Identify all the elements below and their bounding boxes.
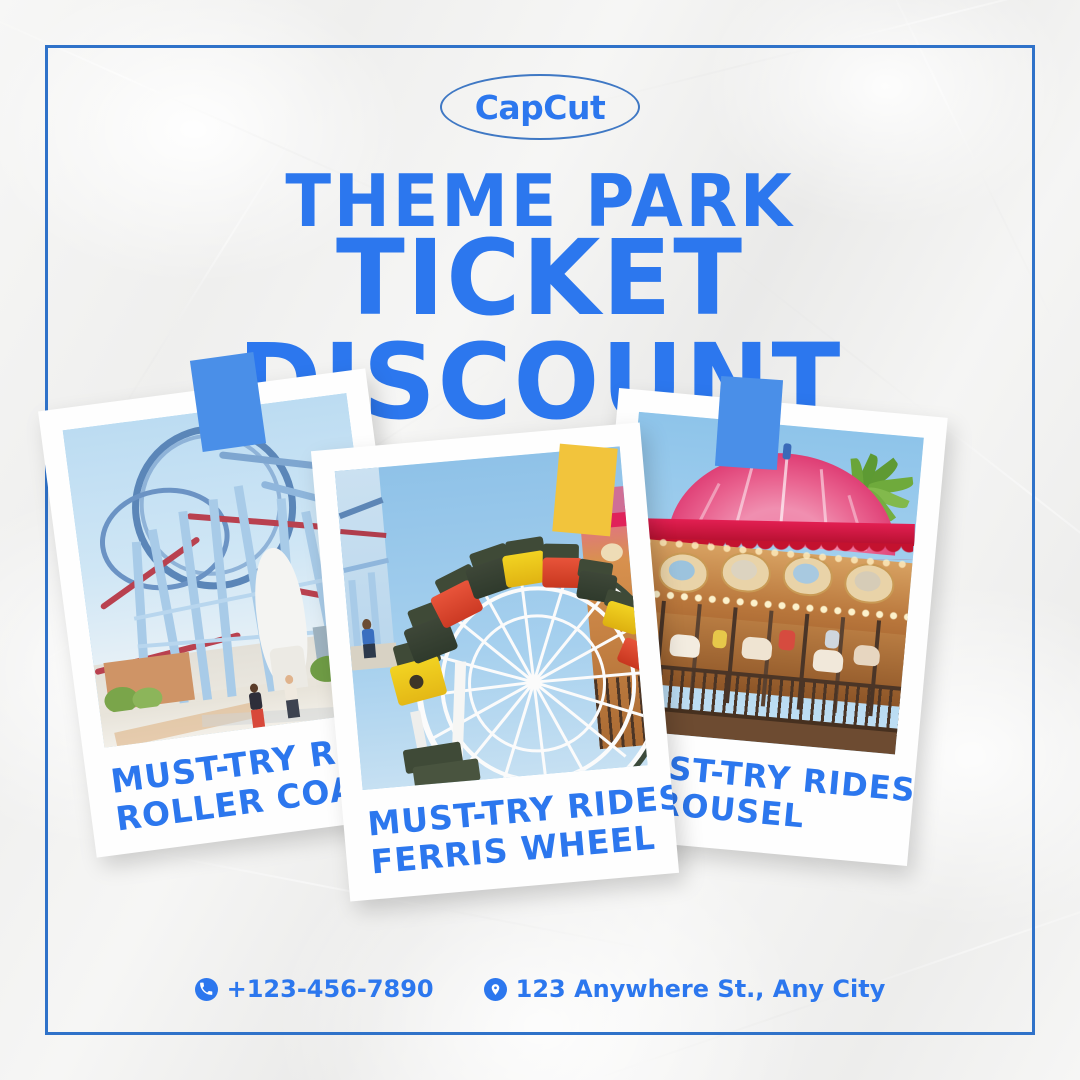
- phone-icon: [195, 978, 218, 1001]
- photo-card-ferris-wheel[interactable]: MUST-TRY RIDES 2 FERRIS WHEEL: [311, 422, 679, 901]
- tape-strip-blue-card3: [715, 376, 783, 470]
- capcut-logo-text: CapCut: [475, 88, 606, 127]
- contact-phone[interactable]: +123-456-7890: [195, 975, 434, 1003]
- location-pin-icon: [484, 978, 507, 1001]
- phone-number-text: +123-456-7890: [227, 975, 434, 1003]
- contact-address[interactable]: 123 Anywhere St., Any City: [484, 975, 886, 1003]
- tape-strip-yellow-card2: [552, 444, 617, 537]
- footer-contact-bar: +123-456-7890 123 Anywhere St., Any City: [0, 975, 1080, 1003]
- poster-canvas: CapCut THEME PARK TICKET DISCOUNT: [0, 0, 1080, 1080]
- tape-strip-blue-card1: [190, 352, 266, 452]
- capcut-logo: CapCut: [440, 74, 640, 140]
- card-caption-ferris-wheel: MUST-TRY RIDES 2 FERRIS WHEEL: [366, 775, 679, 881]
- address-text: 123 Anywhere St., Any City: [516, 975, 886, 1003]
